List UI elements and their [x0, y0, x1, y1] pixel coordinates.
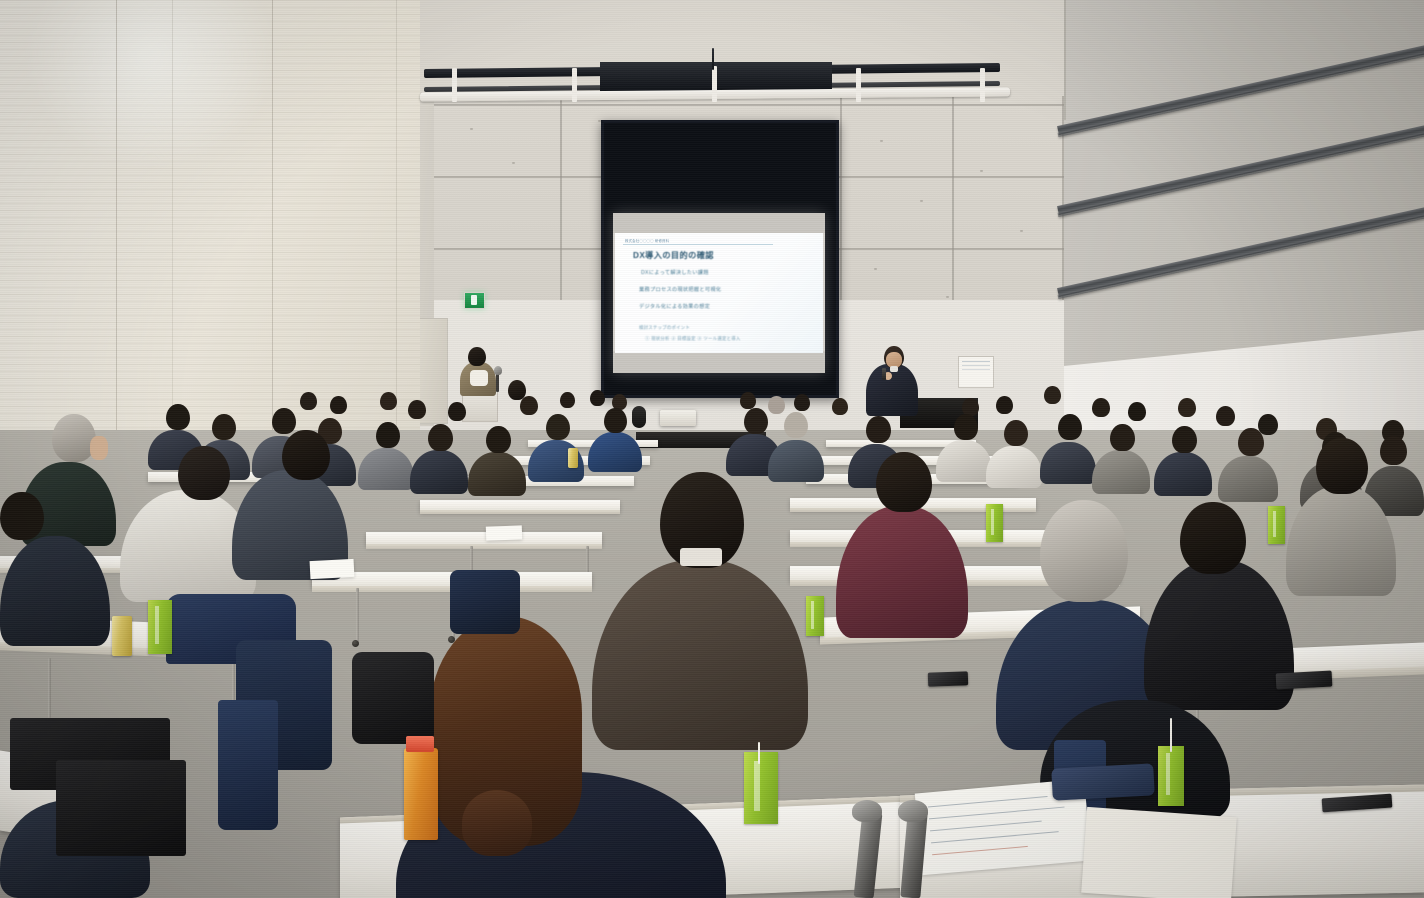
panel-seam — [840, 96, 842, 326]
letterbox-bar-top — [613, 213, 825, 233]
attendee-head — [740, 392, 756, 409]
attendee-head — [1238, 428, 1264, 456]
wall-seam — [272, 0, 273, 470]
attendee-head — [520, 396, 538, 415]
attendee-head — [996, 396, 1013, 414]
attendee-face — [90, 436, 108, 460]
attendee-head — [282, 430, 330, 480]
wall-seam — [116, 0, 117, 470]
navy-pencil-case — [1051, 763, 1155, 800]
wall-light-glow — [20, 0, 280, 170]
attendee-head — [1044, 386, 1061, 404]
green-tea-carton — [1158, 746, 1184, 806]
slide-bullet: DXによって解決したい課題 — [641, 269, 709, 276]
attendee-head — [178, 446, 230, 500]
attendee-head — [212, 414, 236, 440]
microphone-stand — [496, 372, 499, 392]
attendee-head — [448, 402, 466, 421]
rail-clip — [452, 68, 457, 102]
slide-eyebrow: 株式会社◯◯◯◯ 研修資料 — [625, 238, 669, 243]
attendee-head — [376, 422, 400, 448]
panel-seam — [400, 104, 1080, 106]
attendee-head — [486, 426, 511, 453]
attendee-head — [300, 392, 317, 410]
table-edge — [366, 544, 602, 549]
rail-clip — [712, 66, 717, 102]
rail-hanger — [712, 48, 714, 70]
lectern-person-head — [468, 347, 486, 366]
panel-seam — [560, 96, 562, 326]
wall-corner — [1064, 0, 1066, 120]
attendee-head — [0, 492, 44, 540]
attendee-head — [1316, 438, 1368, 494]
attendee-head — [1004, 420, 1028, 446]
attendee-hair-tips — [462, 790, 532, 856]
slide-divider — [623, 244, 773, 245]
table-leg — [356, 588, 359, 644]
wall-seam — [396, 0, 397, 440]
slide-title: DX導入の目的の確認 — [633, 249, 714, 261]
attendee-head — [744, 408, 768, 434]
attendee-head — [794, 394, 810, 411]
pa-speaker — [632, 406, 646, 428]
attendee-head — [1110, 424, 1135, 451]
attendee-head — [560, 392, 575, 408]
slide-bullet: デジタル化による効果の想定 — [639, 303, 710, 310]
attendee-head — [428, 424, 453, 451]
presentation-slide: 株式会社◯◯◯◯ 研修資料 DX導入の目的の確認 DXによって解決したい課題 業… — [615, 233, 823, 353]
attendee-head — [380, 392, 397, 410]
drinking-straw — [1170, 718, 1172, 752]
smartphone — [1276, 671, 1333, 690]
orange-tea-bottle — [404, 748, 438, 840]
attendee-head — [546, 414, 570, 440]
attendee-head — [604, 408, 627, 433]
attendee-head — [866, 416, 891, 443]
microphone-head-icon — [852, 800, 882, 822]
drinking-straw — [758, 742, 760, 764]
wall-seam — [172, 0, 173, 470]
printed-handout — [1081, 807, 1237, 898]
wall-notice-panel — [958, 356, 994, 388]
slide-footnote-heading: 検討ステップのポイント — [639, 325, 690, 331]
stowed-bag — [450, 570, 520, 634]
green-tea-carton — [744, 752, 778, 824]
table-caster — [352, 640, 359, 647]
attendee-grey-hair-left — [52, 414, 96, 462]
attendee-head — [590, 390, 605, 406]
stowed-bag — [352, 652, 434, 744]
projector-on-table — [660, 410, 696, 426]
seminar-room-photo: A photograph taken from the rear of a se… — [0, 0, 1424, 898]
handheld-microphone — [882, 368, 886, 380]
attendee-head — [330, 396, 347, 414]
attendee-collar — [680, 548, 722, 566]
panel-seam — [952, 96, 954, 326]
gold-beverage-can — [112, 616, 132, 656]
attendee-head — [272, 408, 296, 434]
draped-coat — [218, 700, 278, 830]
attendee-head — [1380, 436, 1407, 465]
emergency-exit-sign — [464, 292, 485, 309]
bottle-cap — [406, 736, 434, 752]
green-tea-carton — [1268, 506, 1285, 544]
printed-handout — [486, 525, 522, 540]
attendee-head — [1172, 426, 1197, 453]
attendee-head — [1180, 502, 1246, 574]
exit-running-figure-icon — [471, 295, 477, 305]
table-edge — [420, 510, 620, 514]
projected-image: 株式会社◯◯◯◯ 研修資料 DX導入の目的の確認 DXによって解決したい課題 業… — [613, 213, 825, 373]
attendee-head-grey — [768, 396, 785, 414]
attendee-head — [1258, 414, 1278, 435]
table-leg — [48, 658, 51, 718]
attendee-head — [954, 414, 978, 440]
attendee-grey-hair-right — [1040, 500, 1128, 602]
smartphone — [928, 671, 968, 686]
attendee-head — [166, 404, 190, 430]
attendee-head — [1216, 406, 1235, 426]
lectern-person-shirt — [470, 370, 488, 386]
attendee-head-grey — [784, 412, 808, 438]
green-tea-carton — [986, 504, 1003, 542]
rail-clip — [980, 68, 985, 102]
stowed-bag — [56, 760, 186, 856]
attendee-head — [1178, 398, 1196, 417]
rail-clip — [572, 68, 577, 102]
gold-beverage-can — [568, 448, 578, 468]
rail-clip — [856, 68, 861, 102]
green-tea-carton — [148, 600, 172, 654]
microphone-head-icon — [898, 800, 928, 822]
letterbox-bar-bottom — [613, 351, 825, 373]
printed-handout — [310, 559, 355, 579]
green-tea-carton — [806, 596, 824, 636]
attendee-head — [832, 398, 848, 415]
attendee-head — [1128, 402, 1146, 421]
attendee-head — [1058, 414, 1082, 440]
attendee-head — [876, 452, 932, 512]
slide-footnote-line: ① 現状分析 ② 目標設定 ③ ツール選定と導入 — [645, 336, 741, 342]
slide-bullet: 業務プロセスの現状把握と可視化 — [639, 286, 721, 293]
attendee-head — [1092, 398, 1110, 417]
presenter-collar — [890, 366, 898, 372]
attendee-head — [408, 400, 426, 419]
microphone-head-icon — [494, 366, 502, 375]
